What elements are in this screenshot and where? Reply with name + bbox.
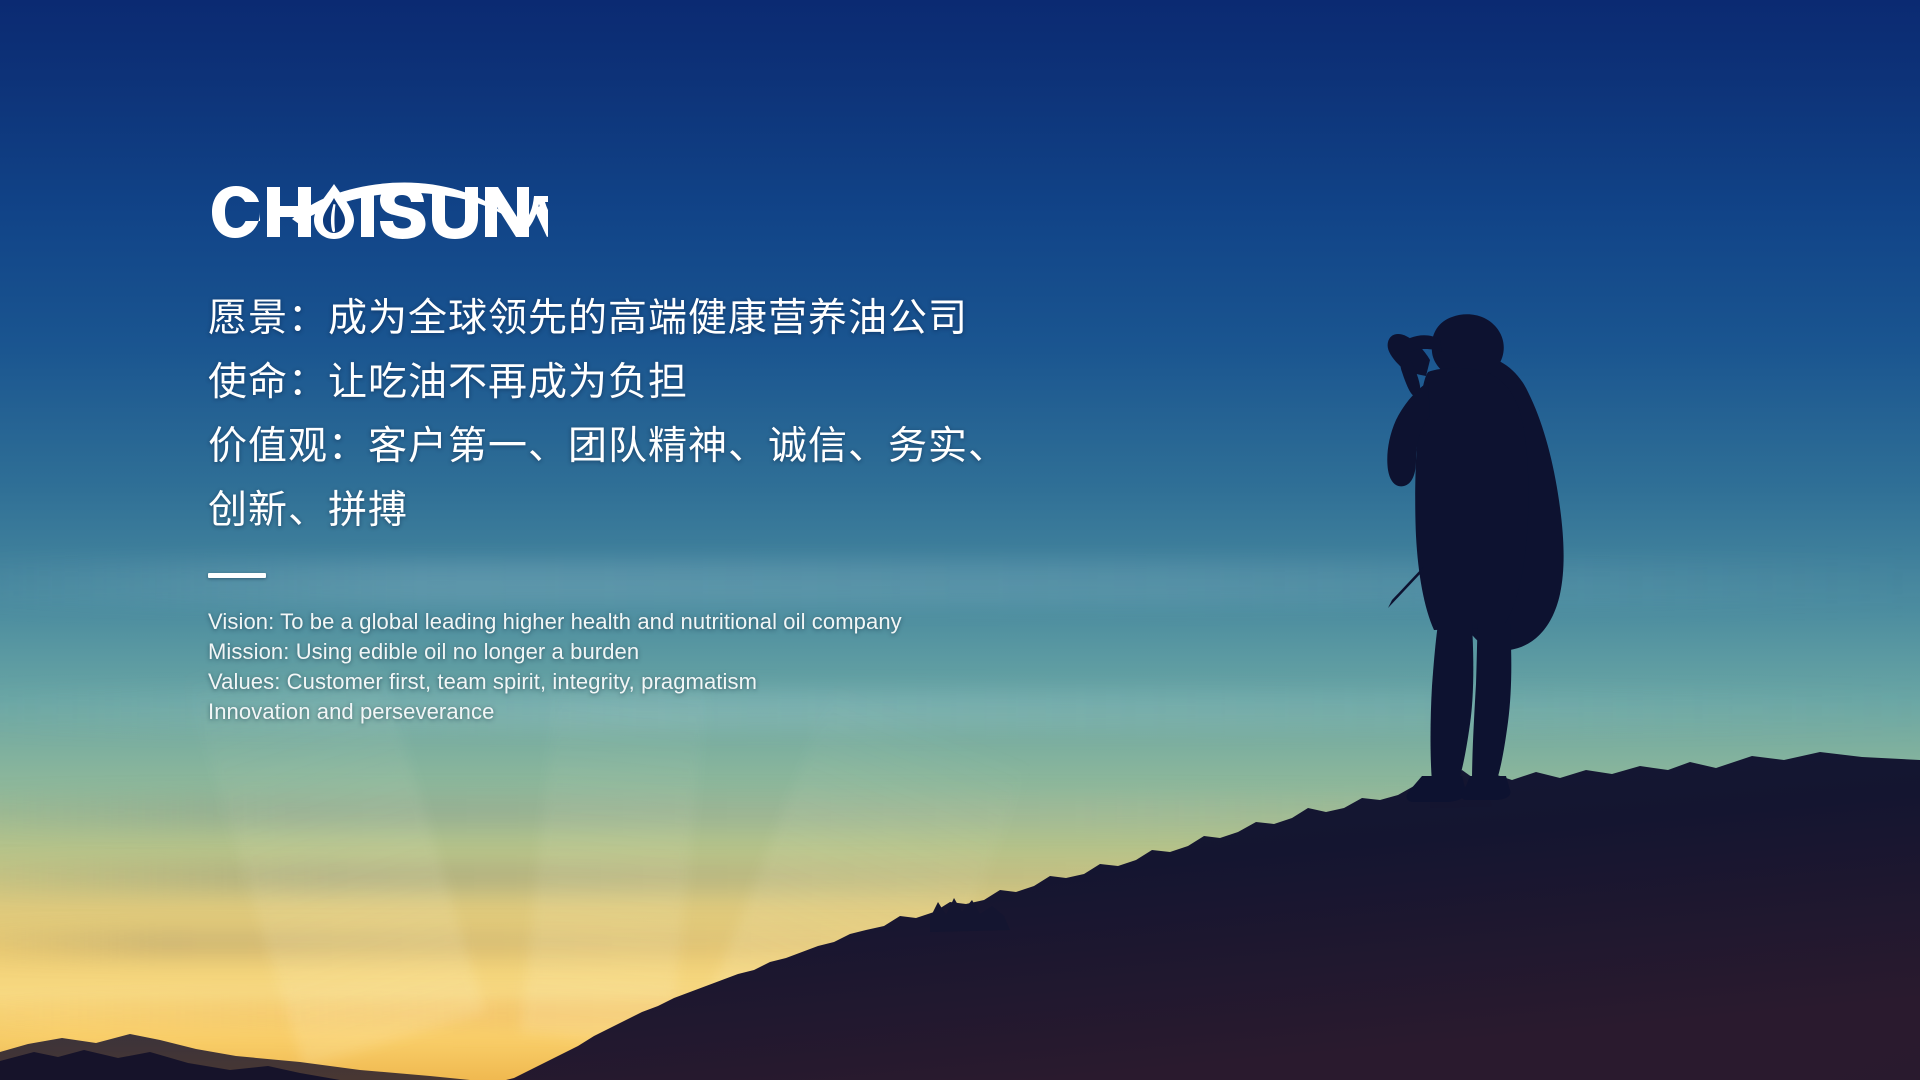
content-block: 愿景：成为全球领先的高端健康营养油公司 使命：让吃油不再成为负担 价值观：客户第… <box>208 178 1248 727</box>
logo-wordmark <box>212 184 529 239</box>
values-line-en: Values: Customer first, team spirit, int… <box>208 667 1248 697</box>
statement-english: Vision: To be a global leading higher he… <box>208 607 1248 727</box>
values-line-cn-cont: 创新、拼搏 <box>208 479 1248 543</box>
values-line-en-cont: Innovation and perseverance <box>208 697 1248 727</box>
mission-line-en: Mission: Using edible oil no longer a bu… <box>208 637 1248 667</box>
choisun-logo[interactable] <box>208 178 548 253</box>
values-line-cn: 价值观：客户第一、团队精神、诚信、务实、 <box>208 415 1248 479</box>
section-divider <box>208 573 266 578</box>
slide-canvas: 愿景：成为全球领先的高端健康营养油公司 使命：让吃油不再成为负担 价值观：客户第… <box>0 0 1920 1080</box>
statement-chinese: 愿景：成为全球领先的高端健康营养油公司 使命：让吃油不再成为负担 价值观：客户第… <box>208 287 1248 543</box>
vision-line-en: Vision: To be a global leading higher he… <box>208 607 1248 637</box>
mission-line-cn: 使命：让吃油不再成为负担 <box>208 351 1248 415</box>
vision-line-cn: 愿景：成为全球领先的高端健康营养油公司 <box>208 287 1248 351</box>
